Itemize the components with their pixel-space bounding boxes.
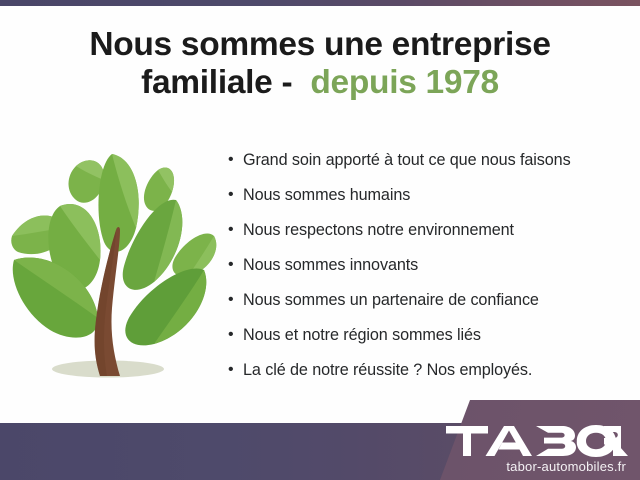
list-item: • Nous sommes humains (228, 183, 628, 218)
bullet-icon: • (228, 218, 243, 242)
list-item-label: Nous respectons notre environnement (243, 218, 514, 242)
bullet-icon: • (228, 183, 243, 207)
list-item-label: Grand soin apporté à tout ce que nous fa… (243, 148, 571, 172)
title-accent-year: depuis 1978 (310, 64, 499, 101)
list-item-label: Nous sommes innovants (243, 253, 418, 277)
bullet-icon: • (228, 288, 243, 312)
list-item-label: Nous sommes humains (243, 183, 410, 207)
tree-illustration (8, 148, 223, 393)
slide-canvas: Nous sommes une entreprise familiale - d… (0, 0, 640, 480)
list-item-label: Nous sommes un partenaire de confiance (243, 288, 539, 312)
bullet-icon: • (228, 358, 243, 382)
list-item: • La clé de notre réussite ? Nos employé… (228, 358, 628, 393)
list-item-label: Nous et notre région sommes liés (243, 323, 481, 347)
bullet-icon: • (228, 323, 243, 347)
list-item: • Nous sommes innovants (228, 253, 628, 288)
list-item: • Grand soin apporté à tout ce que nous … (228, 148, 628, 183)
title-line-2: familiale - depuis 1978 (0, 64, 640, 102)
list-item-label: La clé de notre réussite ? Nos employés. (243, 358, 532, 382)
tree-illustration-svg (8, 148, 223, 393)
list-item: • Nous sommes un partenaire de confiance (228, 288, 628, 323)
top-accent-bar (0, 0, 640, 6)
title-line-1: Nous sommes une entreprise (0, 26, 640, 64)
brand-logo[interactable]: tabor-automobiles.fr (428, 424, 628, 474)
website-url[interactable]: tabor-automobiles.fr (428, 459, 626, 474)
bullet-icon: • (228, 148, 243, 172)
list-item: • Nous respectons notre environnement (228, 218, 628, 253)
bullet-icon: • (228, 253, 243, 277)
title-line-2-plain: familiale - (141, 64, 292, 101)
tabor-wordmark-icon (444, 424, 628, 458)
page-title: Nous sommes une entreprise familiale - d… (0, 26, 640, 102)
list-item: • Nous et notre région sommes liés (228, 323, 628, 358)
benefits-list: • Grand soin apporté à tout ce que nous … (228, 148, 628, 393)
